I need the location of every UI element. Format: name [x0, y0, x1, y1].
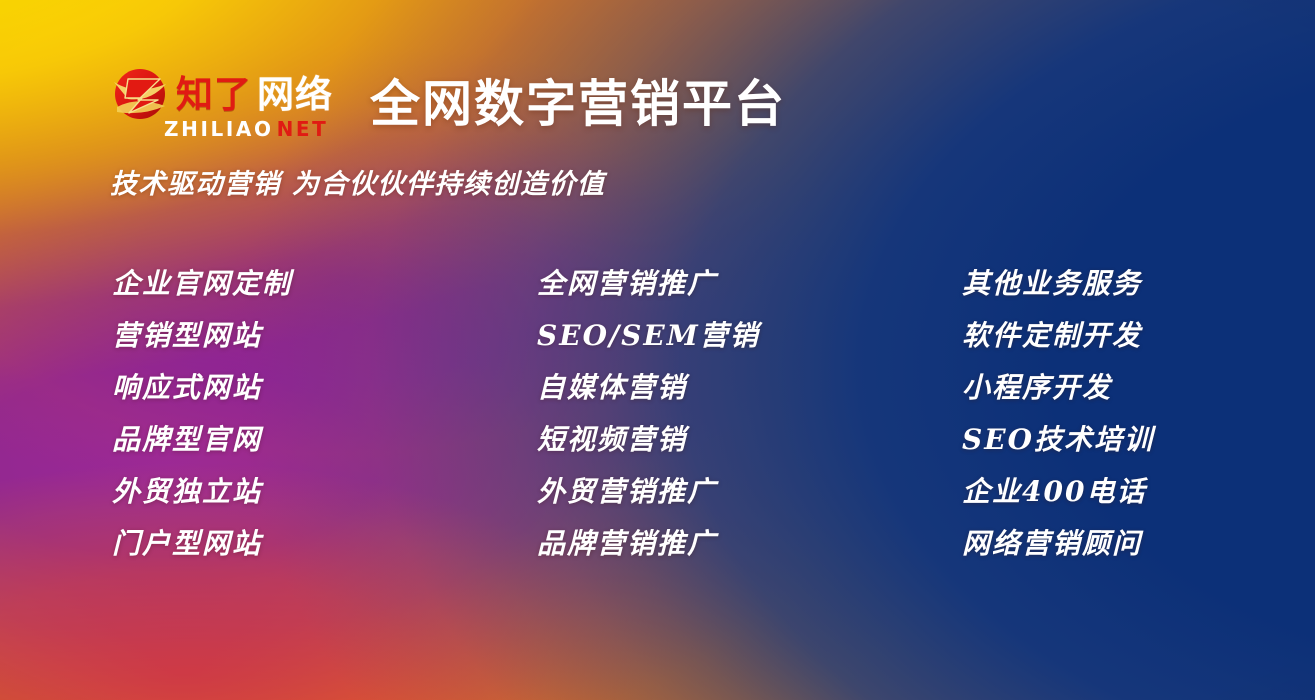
list-item[interactable]: SEO/SEM营销: [537, 310, 867, 362]
service-column-websites: 企业官网定制 营销型网站 响应式网站 品牌型官网 外贸独立站 门户型网站: [112, 258, 442, 570]
page-subtitle: 技术驱动营销 为合伙伙伴持续创造价值: [110, 162, 605, 201]
logo-top-row: 知了 网络: [108, 70, 333, 118]
banner-content: 知了 网络 ZHILIAO NET 全网数字营销平台 技术驱动营销 为合伙伙伴持…: [0, 0, 1315, 700]
logo-chinese-wordmark: 知了 网络: [176, 76, 333, 113]
list-item[interactable]: 营销型网站: [112, 310, 442, 362]
list-item[interactable]: 小程序开发: [962, 362, 1292, 414]
page-title: 全网数字营销平台: [370, 79, 786, 129]
promo-banner: 知了 网络 ZHILIAO NET 全网数字营销平台 技术驱动营销 为合伙伙伴持…: [0, 0, 1315, 700]
logo-zhiliao-latin: ZHILIAO: [164, 119, 274, 139]
zhiliao-emblem-icon: [108, 66, 174, 122]
list-item[interactable]: 外贸独立站: [112, 466, 442, 518]
banner-header: 知了 网络 ZHILIAO NET 全网数字营销平台: [108, 70, 786, 136]
list-item[interactable]: 软件定制开发: [962, 310, 1292, 362]
list-item[interactable]: 外贸营销推广: [537, 466, 867, 518]
logo-net-cn: 网络: [257, 76, 333, 113]
service-column-other: 其他业务服务 软件定制开发 小程序开发 SEO技术培训 企业400电话 网络营销…: [962, 258, 1292, 570]
list-item[interactable]: 网络营销顾问: [962, 518, 1292, 570]
brand-logo[interactable]: 知了 网络 ZHILIAO NET: [108, 70, 344, 136]
service-column-marketing: 全网营销推广 SEO/SEM营销 自媒体营销 短视频营销 外贸营销推广 品牌营销…: [537, 258, 867, 570]
list-item[interactable]: 响应式网站: [112, 362, 442, 414]
logo-zhiliao-cn: 知了: [176, 76, 252, 113]
service-columns: 企业官网定制 营销型网站 响应式网站 品牌型官网 外贸独立站 门户型网站 全网营…: [0, 258, 1315, 568]
list-item[interactable]: 门户型网站: [112, 518, 442, 570]
logo-net-latin: NET: [277, 119, 329, 139]
list-item[interactable]: 其他业务服务: [962, 258, 1292, 310]
logo-latin-wordmark: ZHILIAO NET: [164, 119, 328, 139]
list-item[interactable]: 品牌营销推广: [537, 518, 867, 570]
list-item[interactable]: 短视频营销: [537, 414, 867, 466]
list-item[interactable]: 全网营销推广: [537, 258, 867, 310]
list-item[interactable]: SEO技术培训: [962, 414, 1292, 466]
list-item[interactable]: 企业400电话: [962, 466, 1292, 518]
list-item[interactable]: 自媒体营销: [537, 362, 867, 414]
list-item[interactable]: 企业官网定制: [112, 258, 442, 310]
list-item[interactable]: 品牌型官网: [112, 414, 442, 466]
